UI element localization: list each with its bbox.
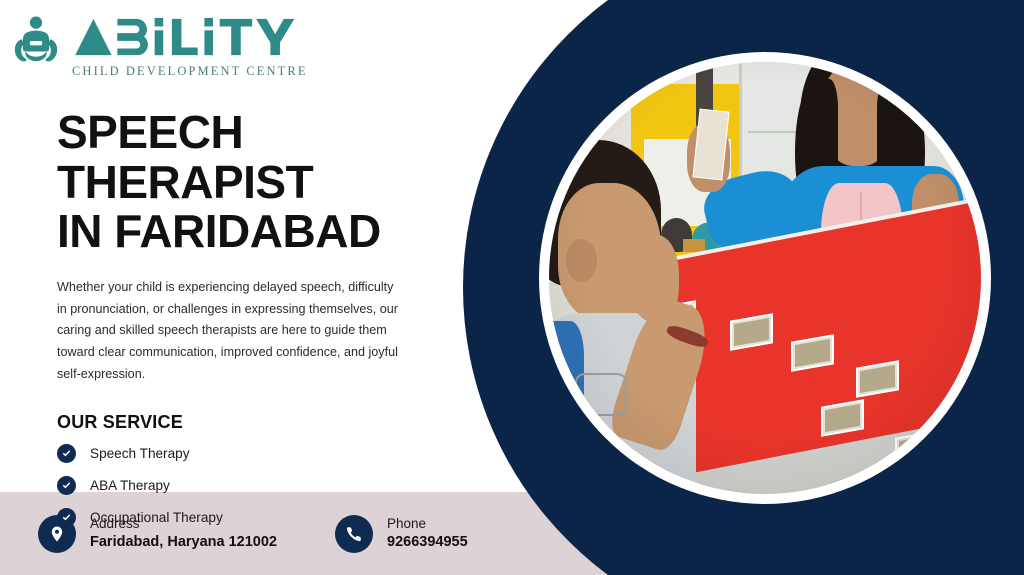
headline-line-2: IN FARIDABAD xyxy=(57,207,487,257)
service-item-aba-therapy[interactable]: ABA Therapy xyxy=(57,476,487,495)
headline-line-1: SPEECH THERAPIST xyxy=(57,106,313,208)
service-label: Speech Therapy xyxy=(90,446,190,461)
therapy-session-photo xyxy=(549,62,981,494)
check-circle-icon xyxy=(57,508,76,527)
banner-stage: CHILD DEVELOPMENT CENTRE SPEECH THERAPIS… xyxy=(0,0,1024,575)
page-title: SPEECH THERAPIST IN FARIDABAD xyxy=(57,108,487,257)
brand-tagline: CHILD DEVELOPMENT CENTRE xyxy=(72,64,310,79)
hero-paragraph: Whether your child is experiencing delay… xyxy=(57,277,401,385)
service-label: ABA Therapy xyxy=(90,478,170,493)
brand-logo[interactable]: CHILD DEVELOPMENT CENTRE xyxy=(8,13,310,79)
hero-content: SPEECH THERAPIST IN FARIDABAD Whether yo… xyxy=(57,108,487,527)
address-value: Faridabad, Haryana 121002 xyxy=(90,533,277,551)
service-label: Occupational Therapy xyxy=(90,510,223,525)
service-item-occupational-therapy[interactable]: Occupational Therapy xyxy=(57,508,487,527)
services-list: Speech Therapy ABA Therapy Occupational … xyxy=(57,444,487,527)
child-in-hands-icon xyxy=(8,13,64,69)
check-circle-icon xyxy=(57,476,76,495)
check-circle-icon xyxy=(57,444,76,463)
brand-wordmark xyxy=(72,15,310,59)
phone-value: 9266394955 xyxy=(387,533,468,551)
services-heading: OUR SERVICE xyxy=(57,412,487,433)
service-item-speech-therapy[interactable]: Speech Therapy xyxy=(57,444,487,463)
